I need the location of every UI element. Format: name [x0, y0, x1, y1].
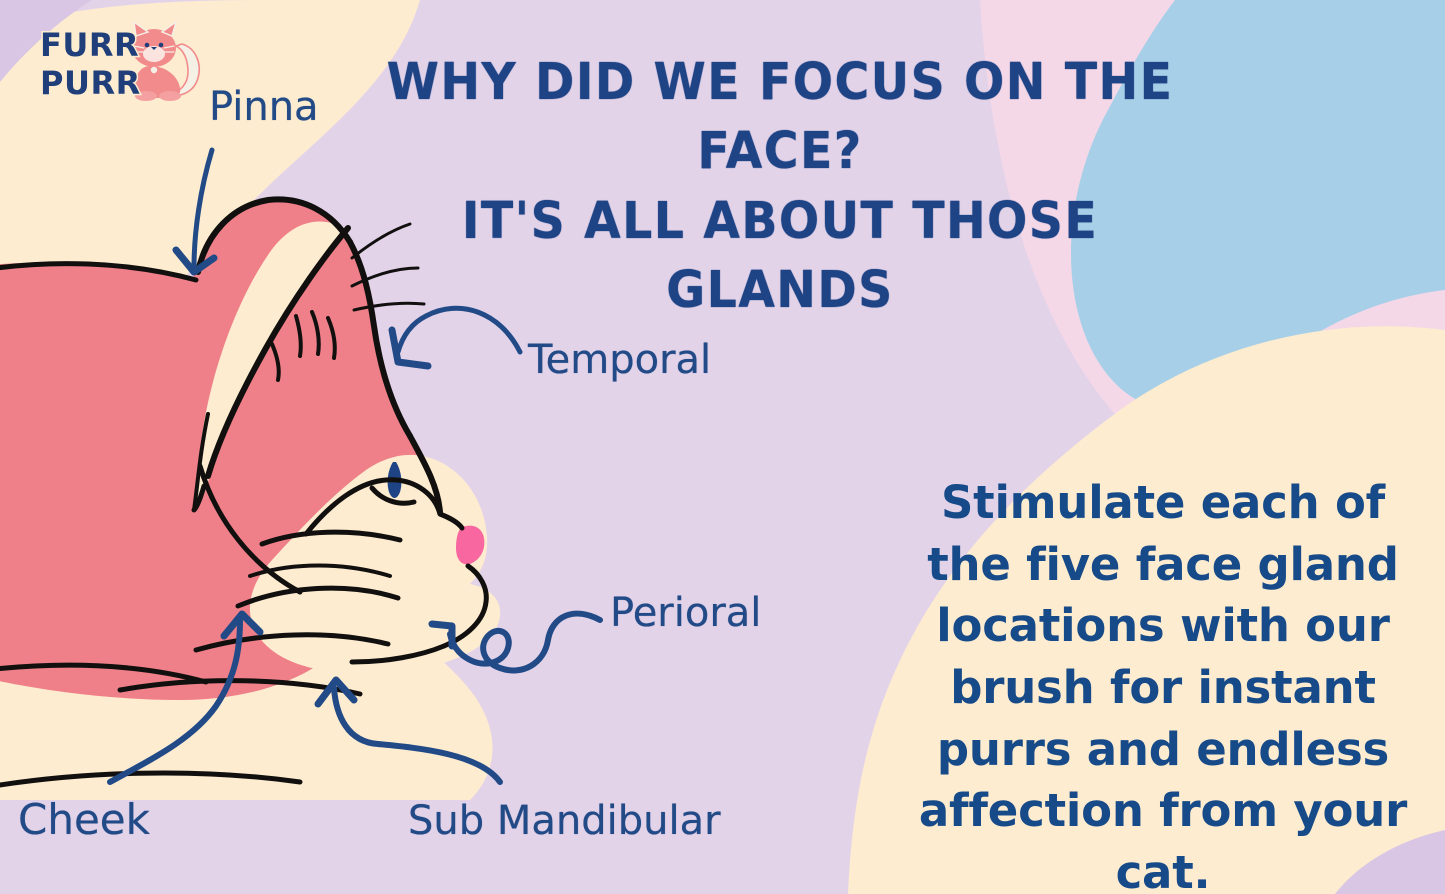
promo-text: Stimulate each of the five face gland lo…	[893, 472, 1433, 894]
gland-label-pinna: Pinna	[209, 84, 319, 130]
page-title: WHY DID WE FOCUS ON THE FACE? IT'S ALL A…	[362, 48, 1199, 325]
arrow-perioral-icon	[432, 614, 600, 671]
gland-label-perioral: Perioral	[610, 590, 761, 636]
brand-name-line1: FURR	[40, 26, 139, 64]
brand-logo[interactable]: FURR PURR	[30, 14, 205, 106]
cat-mascot-icon	[132, 22, 199, 101]
brand-name-line2: PURR	[40, 64, 141, 102]
gland-label-cheek: Cheek	[18, 795, 150, 844]
headline-line-1: WHY DID WE FOCUS ON THE FACE?	[387, 53, 1174, 181]
arrow-pinna-icon	[176, 150, 214, 272]
infographic-canvas: FURR PURR WHY DID WE FOCUS ON THE FACE? …	[0, 0, 1445, 894]
gland-label-sub-mandibular: Sub Mandibular	[408, 798, 721, 844]
arrow-cheek-icon	[110, 614, 260, 782]
gland-label-temporal: Temporal	[528, 337, 711, 383]
headline-line-2: IT'S ALL ABOUT THOSE GLANDS	[362, 187, 1199, 326]
brand-logo-graphic: FURR PURR	[30, 14, 205, 106]
arrow-sub-mandibular-icon	[318, 680, 500, 782]
